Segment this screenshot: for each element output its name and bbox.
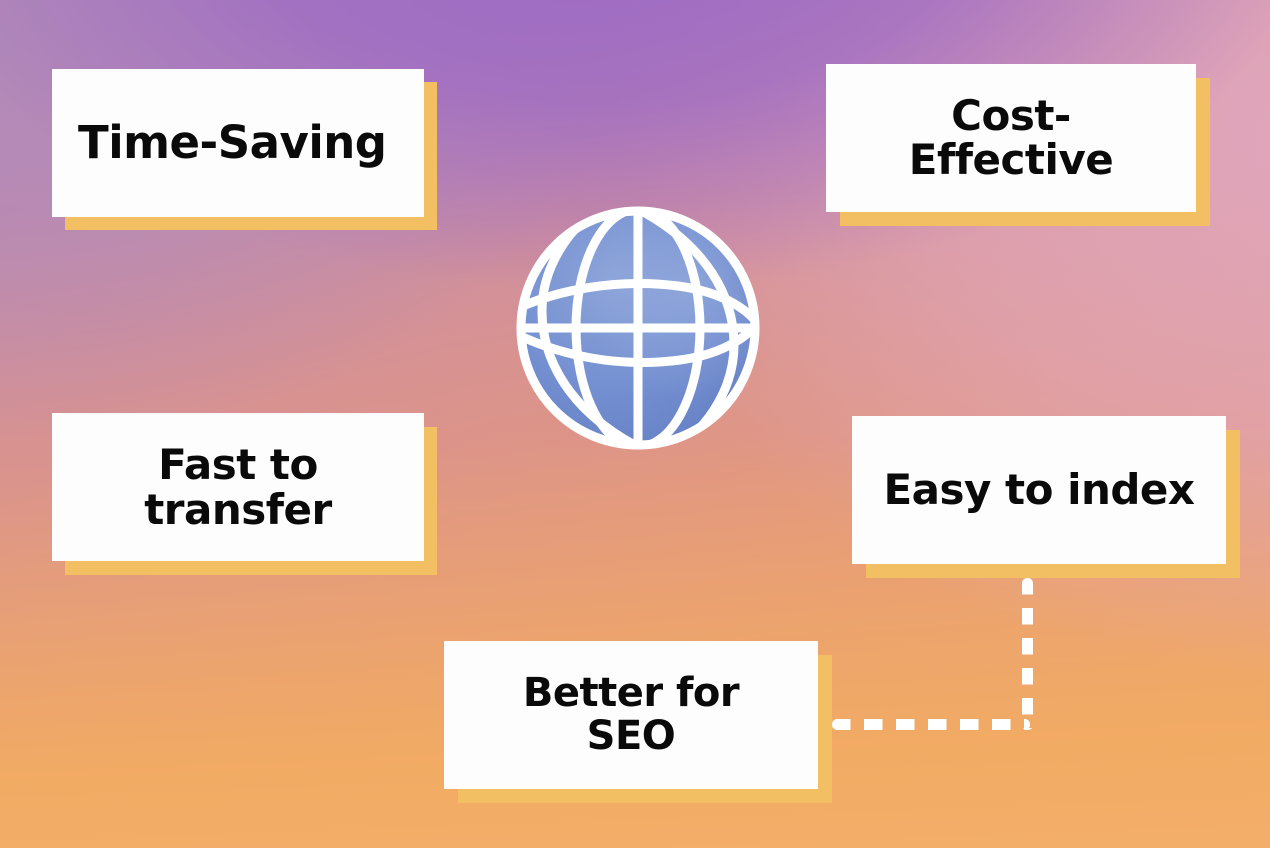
card-label-fast-transfer: Fast to transfer bbox=[52, 442, 424, 533]
card-fast-transfer[interactable]: Fast to transfer bbox=[52, 413, 424, 561]
card-easy-index[interactable]: Easy to index bbox=[852, 416, 1226, 564]
infographic-canvas: Time-Saving Cost- Effective Fast to tran… bbox=[0, 0, 1270, 848]
card-time-saving[interactable]: Time-Saving bbox=[52, 69, 424, 217]
card-label-better-seo: Better for SEO bbox=[444, 672, 818, 758]
card-label-time-saving: Time-Saving bbox=[52, 120, 424, 166]
dashed-connector-horizontal bbox=[832, 719, 1030, 730]
dashed-connector-vertical bbox=[1022, 578, 1033, 730]
card-label-cost-effective: Cost- Effective bbox=[826, 94, 1196, 182]
card-better-seo[interactable]: Better for SEO bbox=[444, 641, 818, 789]
card-label-easy-index: Easy to index bbox=[852, 469, 1226, 512]
globe-icon bbox=[510, 200, 766, 456]
card-cost-effective[interactable]: Cost- Effective bbox=[826, 64, 1196, 212]
